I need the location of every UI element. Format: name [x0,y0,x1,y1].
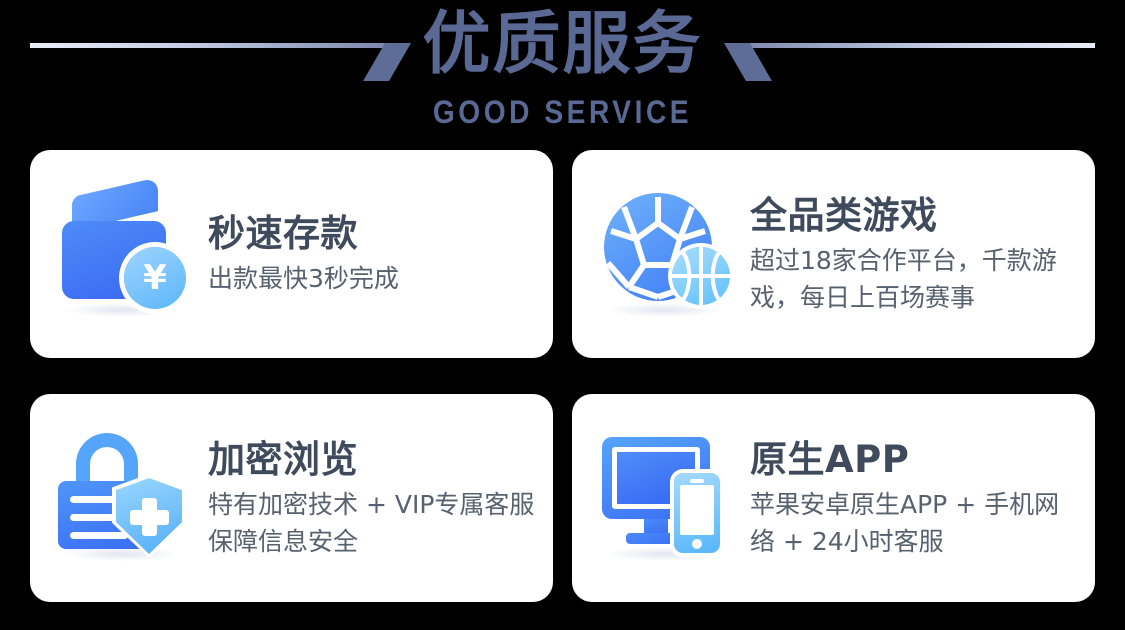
card-description: 超过18家合作平台，千款游戏，每日上百场赛事 [750,242,1080,316]
card-text-block: 全品类游戏 超过18家合作平台，千款游戏，每日上百场赛事 [744,193,1088,316]
feature-card-encrypted-browsing[interactable]: 加密浏览 特有加密技术 + VIP专属客服保障信息安全 [30,394,553,602]
card-title: 原生APP [750,437,1080,482]
feature-card-grid: ¥ 秒速存款 出款最快3秒完成 [30,150,1095,602]
card-description: 特有加密技术 + VIP专属客服保障信息安全 [208,486,545,560]
card-title: 加密浏览 [208,437,545,482]
page-title: 优质服务 [0,5,1125,85]
monitor-phone-icon [596,423,744,573]
icon-shadow [606,303,722,317]
card-text-block: 原生APP 苹果安卓原生APP + 手机网络 + 24小时客服 [744,437,1088,560]
phone-home-button-icon [692,539,702,549]
soccer-basketball-icon [596,179,744,329]
phone-screen-icon [680,485,714,535]
page-subtitle: GOOD SERVICE [68,93,1058,131]
lock-shield-icon [54,423,202,573]
phone-speaker-icon [690,479,704,483]
yen-coin-icon: ¥ [124,247,186,309]
page-header: 优质服务 GOOD SERVICE [0,0,1125,150]
icon-shadow [64,547,180,561]
yen-symbol: ¥ [143,261,167,295]
feature-card-instant-deposit[interactable]: ¥ 秒速存款 出款最快3秒完成 [30,150,553,358]
card-description: 出款最快3秒完成 [208,260,399,297]
card-description: 苹果安卓原生APP + 手机网络 + 24小时客服 [750,486,1080,560]
card-title: 全品类游戏 [750,193,1080,238]
card-text-block: 秒速存款 出款最快3秒完成 [202,211,407,297]
cross-icon [130,510,169,525]
feature-card-all-games[interactable]: 全品类游戏 超过18家合作平台，千款游戏，每日上百场赛事 [572,150,1095,358]
card-title: 秒速存款 [208,211,399,256]
card-text-block: 加密浏览 特有加密技术 + VIP专属客服保障信息安全 [202,437,553,560]
feature-card-native-app[interactable]: 原生APP 苹果安卓原生APP + 手机网络 + 24小时客服 [572,394,1095,602]
wallet-yen-icon: ¥ [54,179,202,329]
lock-slot-icon [70,532,128,539]
basketball-icon [672,247,730,305]
